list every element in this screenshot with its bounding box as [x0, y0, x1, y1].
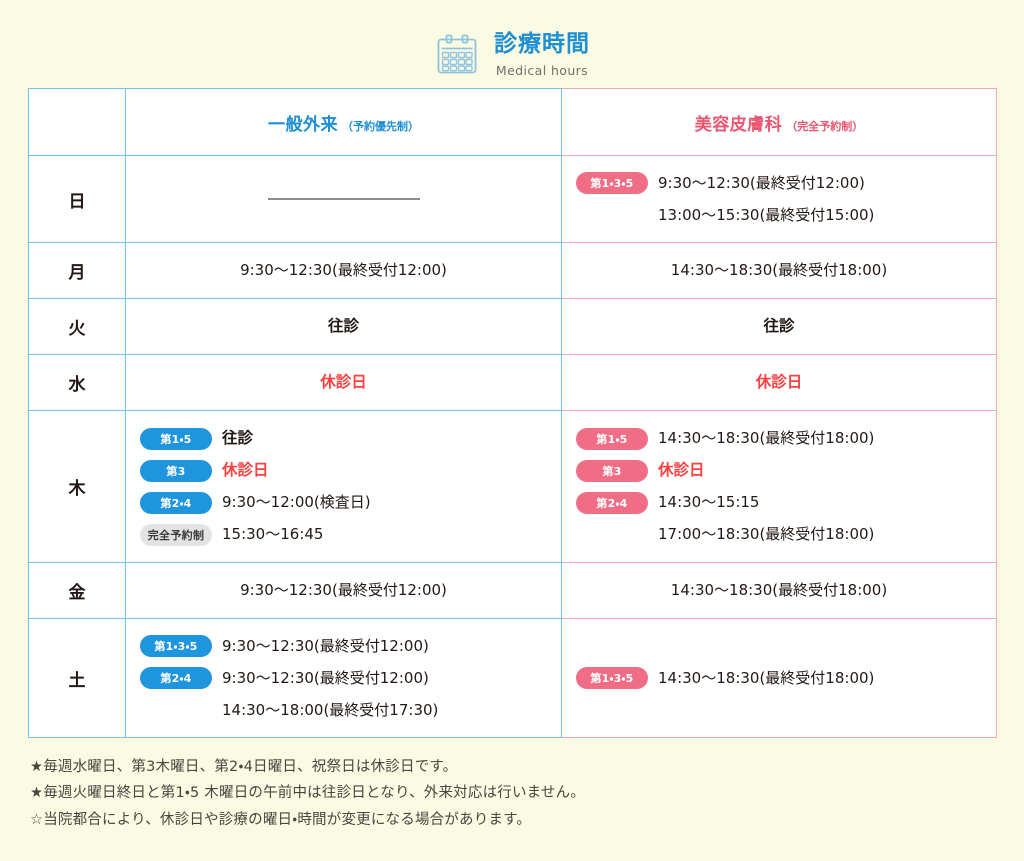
note-line: ☆当院都合により、休診日や診療の曜日・時間が変更になる場合があります。 — [30, 807, 1024, 833]
badge-slot: 完全予約制 — [140, 524, 222, 546]
schedule-text: 休診日 — [658, 460, 705, 482]
week-badge: 第2・4 — [140, 492, 212, 514]
schedule-text: 9:30〜12:30(最終受付12:00) — [658, 173, 865, 194]
schedule-line: 第3休診日 — [576, 456, 996, 486]
schedule-line: 第1・5往診 — [140, 424, 561, 454]
schedule-text: 17:00〜18:30(最終受付18:00) — [658, 524, 874, 545]
cell-text: 往診 — [562, 306, 996, 346]
day-label-月: 月 — [29, 243, 126, 299]
cell-text: 休診日 — [126, 362, 561, 402]
no-service-dash — [268, 198, 420, 200]
cell-general-4: 第1・5往診第3休診日第2・49:30〜12:00(検査日)完全予約制15:30… — [126, 411, 562, 563]
week-badge: 第3 — [576, 460, 648, 482]
cell-text: 14:30〜18:30(最終受付18:00) — [562, 251, 996, 290]
page-header: 診療時間 Medical hours — [0, 0, 1024, 88]
schedule-text: 14:30〜15:15 — [658, 492, 759, 513]
column-header-general-title: 一般外来 — [268, 115, 338, 135]
cell-line-list: 第1・514:30〜18:30(最終受付18:00)第3休診日第2・414:30… — [562, 412, 996, 562]
column-header-general: 一般外来（予約優先制） — [126, 89, 562, 156]
week-badge: 第2・4 — [576, 492, 648, 514]
badge-slot: 第1・3・5 — [576, 667, 658, 689]
week-badge: 第1・5 — [140, 428, 212, 450]
badge-slot: 第1・5 — [576, 428, 658, 450]
week-badge: 第1・3・5 — [576, 172, 648, 194]
day-label-金: 金 — [29, 563, 126, 619]
schedule-text: 休診日 — [222, 460, 269, 482]
cell-text: 往診 — [126, 306, 561, 346]
column-header-cosmetic: 美容皮膚科（完全予約制） — [562, 89, 997, 156]
badge-slot: 第1・5 — [140, 428, 222, 450]
table-corner-cell — [29, 89, 126, 156]
column-header-cosmetic-note: （完全予約制） — [786, 120, 863, 133]
note-line: ★毎週水曜日、第3木曜日、第2・4日曜日、祝祭日は休診日です。 — [30, 754, 1024, 780]
calendar-icon — [434, 32, 480, 78]
badge-slot: 第3 — [140, 460, 222, 482]
page-title: 診療時間 Medical hours — [494, 32, 590, 77]
schedule-text: 15:30〜16:45 — [222, 524, 323, 545]
cell-text: 14:30〜18:30(最終受付18:00) — [562, 571, 996, 610]
cell-general-0 — [126, 156, 562, 243]
column-header-cosmetic-title: 美容皮膚科 — [695, 115, 783, 135]
day-label-日: 日 — [29, 156, 126, 243]
cell-cosmetic-1: 14:30〜18:30(最終受付18:00) — [562, 243, 997, 299]
week-badge: 第2・4 — [140, 667, 212, 689]
column-header-general-note: （予約優先制） — [342, 120, 419, 133]
schedule-text: 9:30〜12:30(最終受付12:00) — [222, 668, 429, 689]
table-row: 金9:30〜12:30(最終受付12:00)14:30〜18:30(最終受付18… — [29, 563, 997, 619]
schedule-text: 14:30〜18:30(最終受付18:00) — [658, 428, 874, 449]
cell-general-1: 9:30〜12:30(最終受付12:00) — [126, 243, 562, 299]
table-row: 土第1・3・59:30〜12:30(最終受付12:00)第2・49:30〜12:… — [29, 619, 997, 738]
schedule-text: 13:00〜15:30(最終受付15:00) — [658, 205, 874, 226]
schedule-line: 完全予約制15:30〜16:45 — [140, 520, 561, 550]
table-row: 月9:30〜12:30(最終受付12:00)14:30〜18:30(最終受付18… — [29, 243, 997, 299]
cell-general-5: 9:30〜12:30(最終受付12:00) — [126, 563, 562, 619]
table-row: 木第1・5往診第3休診日第2・49:30〜12:00(検査日)完全予約制15:3… — [29, 411, 997, 563]
schedule-text: 14:30〜18:30(最終受付18:00) — [658, 668, 874, 689]
cell-text: 9:30〜12:30(最終受付12:00) — [126, 571, 561, 610]
table-row: 水休診日休診日 — [29, 355, 997, 411]
badge-slot: 第3 — [576, 460, 658, 482]
table-row: 日第1・3・59:30〜12:30(最終受付12:00)13:00〜15:30(… — [29, 156, 997, 243]
cell-general-2: 往診 — [126, 299, 562, 355]
cell-general-6: 第1・3・59:30〜12:30(最終受付12:00)第2・49:30〜12:3… — [126, 619, 562, 738]
notes-block: ★毎週水曜日、第3木曜日、第2・4日曜日、祝祭日は休診日です。★毎週火曜日終日と… — [0, 738, 1024, 833]
schedule-line: 第1・3・59:30〜12:30(最終受付12:00) — [576, 168, 996, 198]
badge-slot: 第2・4 — [576, 492, 658, 514]
schedule-line: 第1・514:30〜18:30(最終受付18:00) — [576, 424, 996, 454]
schedule-line: 17:00〜18:30(最終受付18:00) — [576, 520, 996, 550]
day-label-木: 木 — [29, 411, 126, 563]
table-row: 火往診往診 — [29, 299, 997, 355]
cell-line-list: 第1・5往診第3休診日第2・49:30〜12:00(検査日)完全予約制15:30… — [126, 412, 561, 562]
hours-table-wrapper: 一般外来（予約優先制） 美容皮膚科（完全予約制） 日第1・3・59:30〜12:… — [0, 88, 1024, 738]
cell-cosmetic-0: 第1・3・59:30〜12:30(最終受付12:00)13:00〜15:30(最… — [562, 156, 997, 243]
table-body: 日第1・3・59:30〜12:30(最終受付12:00)13:00〜15:30(… — [29, 156, 997, 738]
schedule-text: 往診 — [222, 428, 253, 450]
week-badge: 第1・5 — [576, 428, 648, 450]
schedule-line: 第1・3・514:30〜18:30(最終受付18:00) — [576, 663, 996, 693]
cell-cosmetic-2: 往診 — [562, 299, 997, 355]
week-badge: 第1・3・5 — [576, 667, 648, 689]
cell-general-3: 休診日 — [126, 355, 562, 411]
cell-cosmetic-4: 第1・514:30〜18:30(最終受付18:00)第3休診日第2・414:30… — [562, 411, 997, 563]
day-label-土: 土 — [29, 619, 126, 738]
schedule-line: 14:30〜18:00(最終受付17:30) — [140, 695, 561, 725]
cell-text: 9:30〜12:30(最終受付12:00) — [126, 251, 561, 290]
schedule-text: 9:30〜12:00(検査日) — [222, 492, 371, 513]
note-line: ★毎週火曜日終日と第1・5 木曜日の午前中は往診日となり、外来対応は行いません。 — [30, 780, 1024, 806]
schedule-line: 第2・49:30〜12:30(最終受付12:00) — [140, 663, 561, 693]
badge-slot: 第2・4 — [140, 492, 222, 514]
day-label-水: 水 — [29, 355, 126, 411]
cell-cosmetic-6: 第1・3・514:30〜18:30(最終受付18:00) — [562, 619, 997, 738]
table-header-row: 一般外来（予約優先制） 美容皮膚科（完全予約制） — [29, 89, 997, 156]
week-badge: 完全予約制 — [140, 524, 212, 546]
page-title-en: Medical hours — [496, 63, 588, 78]
week-badge: 第3 — [140, 460, 212, 482]
day-label-火: 火 — [29, 299, 126, 355]
cell-line-list: 第1・3・514:30〜18:30(最終受付18:00) — [562, 651, 996, 705]
badge-slot: 第2・4 — [140, 667, 222, 689]
week-badge: 第1・3・5 — [140, 635, 212, 657]
schedule-line: 13:00〜15:30(最終受付15:00) — [576, 200, 996, 230]
badge-slot: 第1・3・5 — [576, 172, 658, 194]
cell-text: 休診日 — [562, 362, 996, 402]
schedule-text: 9:30〜12:30(最終受付12:00) — [222, 636, 429, 657]
schedule-line: 第2・414:30〜15:15 — [576, 488, 996, 518]
schedule-line: 第2・49:30〜12:00(検査日) — [140, 488, 561, 518]
cell-cosmetic-5: 14:30〜18:30(最終受付18:00) — [562, 563, 997, 619]
schedule-line: 第1・3・59:30〜12:30(最終受付12:00) — [140, 631, 561, 661]
cell-line-list: 第1・3・59:30〜12:30(最終受付12:00)第2・49:30〜12:3… — [126, 619, 561, 737]
schedule-line: 第3休診日 — [140, 456, 561, 486]
medical-hours-table: 一般外来（予約優先制） 美容皮膚科（完全予約制） 日第1・3・59:30〜12:… — [28, 88, 997, 738]
cell-cosmetic-3: 休診日 — [562, 355, 997, 411]
page-title-ja: 診療時間 — [494, 32, 590, 57]
badge-slot: 第1・3・5 — [140, 635, 222, 657]
cell-line-list: 第1・3・59:30〜12:30(最終受付12:00)13:00〜15:30(最… — [562, 156, 996, 242]
schedule-text: 14:30〜18:00(最終受付17:30) — [222, 700, 438, 721]
